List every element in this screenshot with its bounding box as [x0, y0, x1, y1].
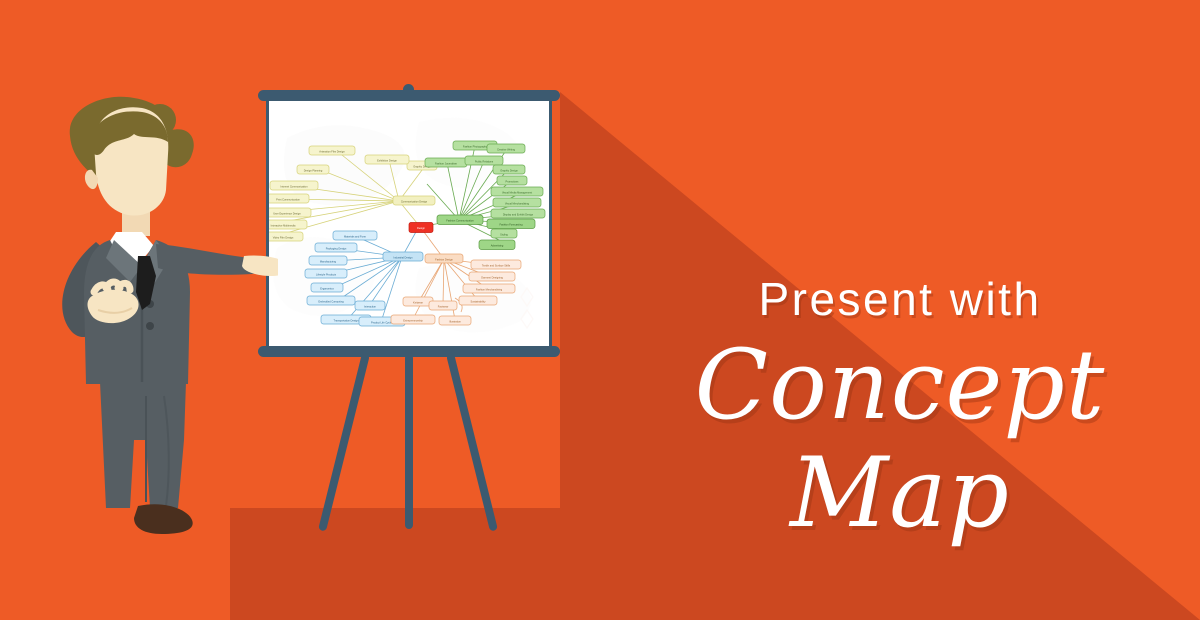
- node-fashion-forecasting[interactable]: Fashion Forecasting: [487, 219, 535, 229]
- node-design-planning[interactable]: Design Planning: [297, 165, 329, 174]
- node-label: Display and Exhibit Design: [503, 212, 534, 216]
- node-illustration[interactable]: Illustration: [439, 316, 471, 325]
- node-label: Animation Film Design: [319, 149, 345, 153]
- board-top-bar: [258, 90, 560, 101]
- concept-map: Communication Design Animation Film Desi…: [269, 98, 552, 350]
- jacket-button-bottom: [146, 322, 154, 330]
- node-label: Fashion Merchandising: [476, 287, 503, 291]
- node-footwear[interactable]: Footwear: [429, 301, 457, 310]
- node-label: Visual Merchandising: [505, 201, 530, 205]
- node-label: Sustainability: [470, 299, 486, 303]
- node-label: Fashion Forecasting: [499, 223, 523, 227]
- node-label: Illustration: [449, 319, 461, 323]
- node-embedded-computing[interactable]: Embedded Computing: [307, 296, 355, 305]
- shoe: [134, 504, 193, 534]
- node-fashion-merchandising[interactable]: Fashion Merchandising: [463, 284, 515, 293]
- node-label: Packaging Design: [326, 246, 347, 250]
- node-label: Design: [417, 226, 426, 230]
- headline-line-2: Concept Map: [610, 332, 1190, 547]
- node-display-and-exhibit-design[interactable]: Display and Exhibit Design: [491, 209, 545, 218]
- node-label: Garment Designing: [481, 275, 504, 279]
- node-label: Ergonomics: [320, 286, 334, 290]
- node-center-design[interactable]: Design: [409, 223, 433, 233]
- node-lifestyle-products[interactable]: Lifestyle Products: [305, 269, 347, 278]
- node-label: Product Life Cycles: [371, 320, 394, 324]
- node-label: Interaction: [364, 304, 376, 308]
- node-label: Entrepreneurship: [403, 318, 423, 322]
- node-label: Design Planning: [304, 168, 323, 172]
- node-fashion-design[interactable]: Fashion Design: [425, 254, 463, 263]
- node-label: Visual Media Management: [502, 190, 532, 194]
- node-label: Transportation Design: [334, 318, 360, 322]
- node-label: Advertising: [491, 244, 504, 248]
- node-knitwear[interactable]: Knitwear: [403, 297, 433, 306]
- banner: Communication Design Animation Film Desi…: [0, 0, 1200, 620]
- node-label: Fashion Photography: [463, 144, 488, 148]
- node-label: Textile and Surface Skills: [482, 263, 511, 267]
- node-label: Footwear: [438, 304, 449, 308]
- trousers: [100, 382, 186, 508]
- nodes-industrial-design: Industrial Design Materials and Form Pac…: [305, 231, 423, 326]
- node-entrepreneurship[interactable]: Entrepreneurship: [391, 315, 435, 324]
- node-label: Graphic Design: [500, 168, 518, 172]
- node-label: Fashion Journalism: [435, 161, 457, 165]
- node-interaction[interactable]: Interaction: [355, 301, 385, 310]
- node-ergonomics[interactable]: Ergonomics: [311, 283, 343, 292]
- node-label: Public Relations: [475, 159, 494, 163]
- node-packaging-design[interactable]: Packaging Design: [315, 243, 357, 252]
- easel: Communication Design Animation Film Desi…: [250, 84, 570, 534]
- node-textile-and-surface-skills[interactable]: Textile and Surface Skills: [471, 260, 521, 269]
- node-label: Materials and Form: [344, 234, 366, 238]
- headline-line-1: Present with: [610, 272, 1190, 326]
- easel-leg-left: [318, 353, 370, 532]
- node-creative-writing[interactable]: Creative Writing: [487, 144, 525, 153]
- node-exhibition-design[interactable]: Exhibition Design: [365, 155, 409, 164]
- node-visual-merchandising[interactable]: Visual Merchandising: [493, 198, 541, 207]
- node-label: Internet Communication: [280, 184, 308, 188]
- node-promotions[interactable]: Promotions: [497, 176, 527, 185]
- node-animation-film-design[interactable]: Animation Film Design: [309, 146, 355, 155]
- node-sustainability[interactable]: Sustainability: [459, 296, 497, 305]
- node-styling[interactable]: Styling: [491, 229, 517, 238]
- presenter-character: [38, 96, 278, 546]
- node-label: Fashion Design: [435, 257, 453, 261]
- node-label: Exhibition Design: [377, 158, 397, 162]
- node-label: Print Communication: [276, 197, 300, 201]
- node-graphic-design-green[interactable]: Graphic Design: [493, 165, 525, 174]
- node-advertising[interactable]: Advertising: [479, 240, 515, 250]
- presentation-board: Communication Design Animation Film Desi…: [250, 84, 568, 369]
- node-communication-design[interactable]: Communication Design: [393, 196, 435, 205]
- node-fashion-communication[interactable]: Fashion Communication: [437, 215, 483, 225]
- node-label: Creative Writing: [497, 147, 516, 151]
- node-label: Fashion Communication: [446, 219, 474, 223]
- node-label: Styling: [500, 232, 508, 236]
- node-label: Manufacturing: [320, 259, 337, 263]
- node-materials-and-form[interactable]: Materials and Form: [333, 231, 377, 240]
- node-fashion-journalism[interactable]: Fashion Journalism: [425, 158, 467, 167]
- node-public-relations[interactable]: Public Relations: [465, 156, 503, 165]
- easel-leg-right: [446, 353, 498, 532]
- node-label: Knitwear: [413, 300, 423, 304]
- node-label: Promotions: [506, 179, 520, 183]
- nodes-fashion-design: Fashion Design Textile and Surface Skill…: [391, 254, 521, 325]
- node-label: Lifestyle Products: [316, 272, 337, 276]
- node-label: Communication Design: [401, 199, 428, 203]
- node-garment-designing[interactable]: Garment Designing: [469, 272, 515, 281]
- board-bottom-bar: [258, 346, 560, 357]
- node-industrial-design[interactable]: Industrial Design: [383, 252, 423, 261]
- node-manufacturing[interactable]: Manufacturing: [309, 256, 347, 265]
- easel-leg-center: [405, 354, 413, 529]
- node-label: Embedded Computing: [318, 299, 344, 303]
- board-canvas: Communication Design Animation Film Desi…: [266, 98, 552, 350]
- node-visual-media-management[interactable]: Visual Media Management: [491, 187, 543, 196]
- node-label: Industrial Design: [394, 255, 414, 259]
- headline-block: Present with Concept Map: [610, 272, 1190, 547]
